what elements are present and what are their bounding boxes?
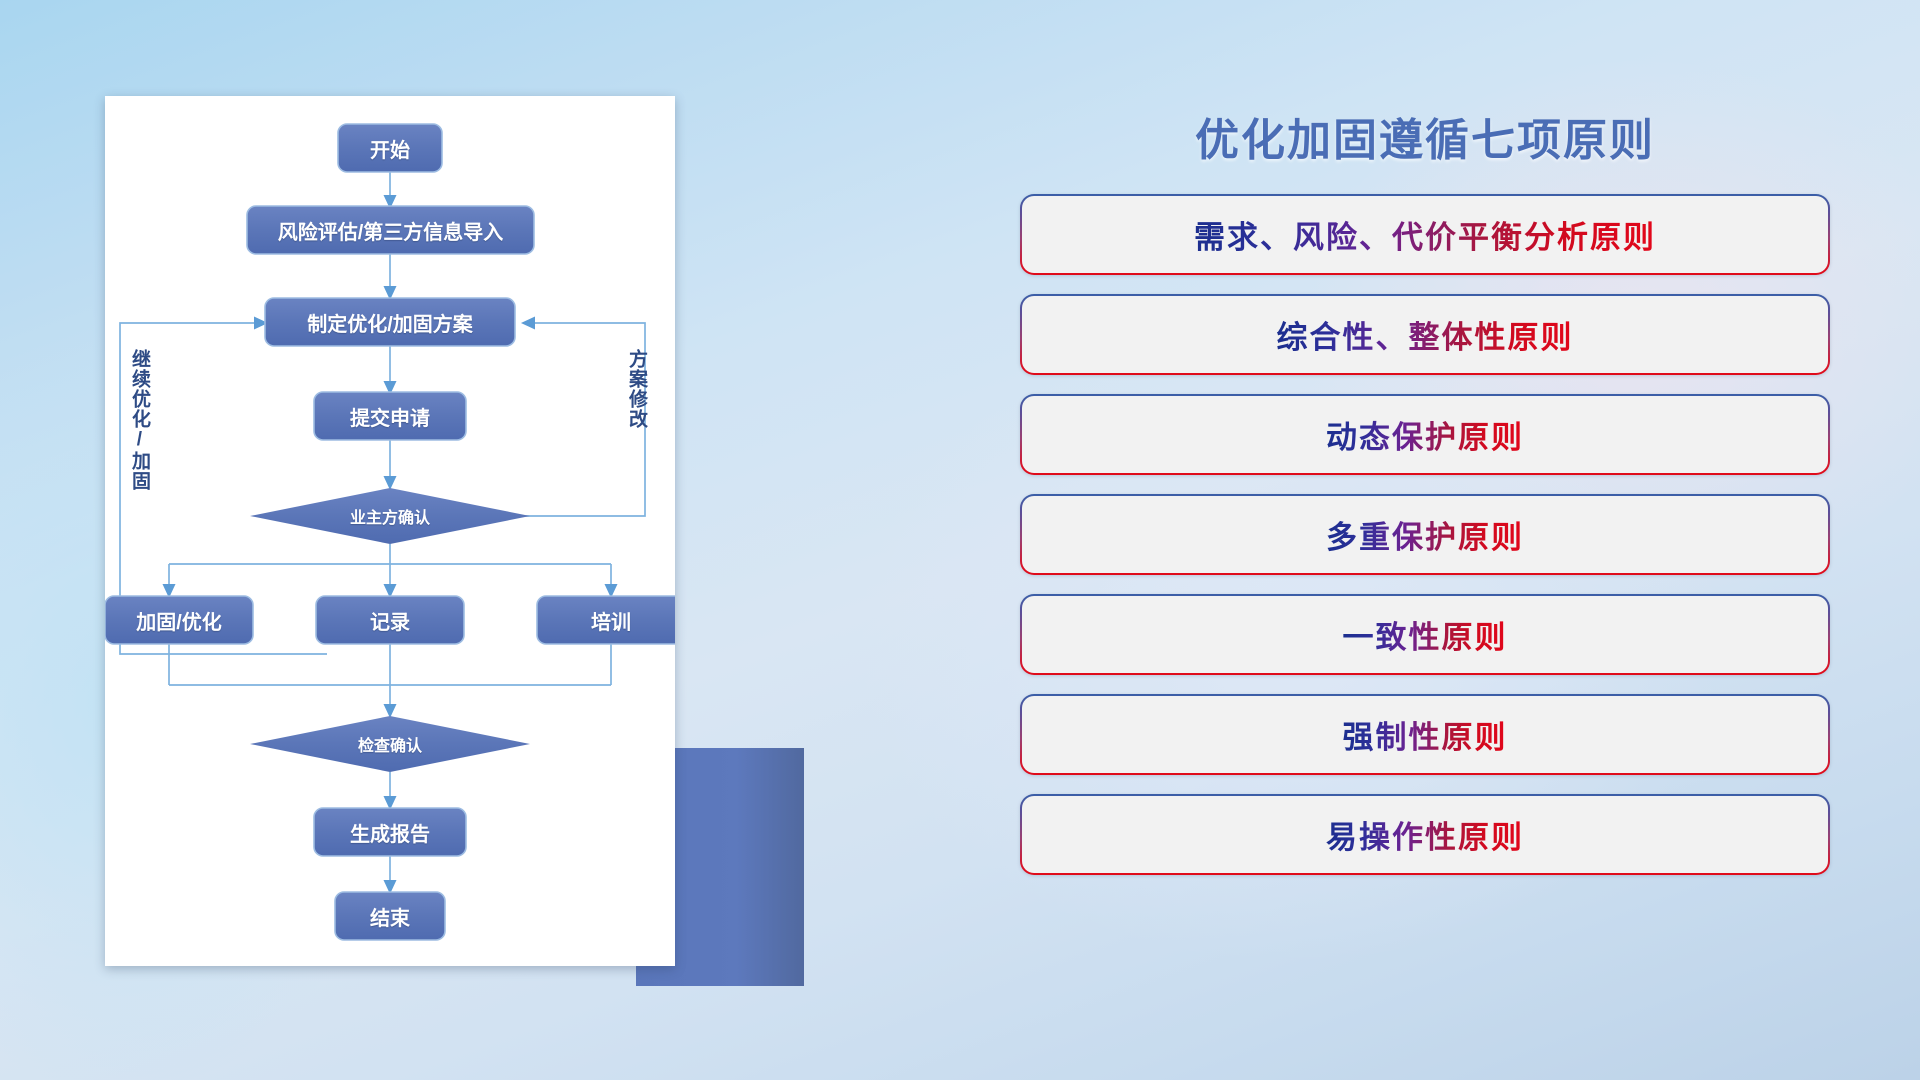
principle-item-4[interactable]: 多重保护原则: [1020, 494, 1830, 575]
flow-edge-label-continue-optimize: 继续优化/加固: [129, 349, 149, 491]
principle-item-2[interactable]: 综合性、整体性原则: [1020, 294, 1830, 375]
flow-edge-label-plan-revision: 方案修改: [626, 349, 646, 429]
flowchart-graphics: [105, 96, 675, 966]
principle-label: 需求、风险、代价平衡分析原则: [1194, 212, 1656, 257]
principles-list: 需求、风险、代价平衡分析原则 综合性、整体性原则 动态保护原则 多重保护原则 一…: [1020, 194, 1830, 894]
principle-label: 易操作性原则: [1326, 812, 1524, 857]
principle-label: 多重保护原则: [1326, 512, 1524, 557]
slide-canvas: 开始 风险评估/第三方信息导入 制定优化/加固方案 提交申请 业主方确认 加固/…: [0, 0, 1920, 1080]
page-title: 优化加固遵循七项原则: [1020, 104, 1830, 168]
principles-panel: 优化加固遵循七项原则 需求、风险、代价平衡分析原则 综合性、整体性原则 动态保护…: [1020, 90, 1830, 1020]
flowchart-card: 开始 风险评估/第三方信息导入 制定优化/加固方案 提交申请 业主方确认 加固/…: [105, 96, 675, 966]
principle-item-5[interactable]: 一致性原则: [1020, 594, 1830, 675]
principle-item-7[interactable]: 易操作性原则: [1020, 794, 1830, 875]
principle-item-1[interactable]: 需求、风险、代价平衡分析原则: [1020, 194, 1830, 275]
principle-label: 综合性、整体性原则: [1277, 312, 1574, 357]
flowchart: 开始 风险评估/第三方信息导入 制定优化/加固方案 提交申请 业主方确认 加固/…: [105, 96, 675, 966]
principle-item-6[interactable]: 强制性原则: [1020, 694, 1830, 775]
principle-label: 一致性原则: [1343, 612, 1508, 657]
principle-label: 强制性原则: [1343, 712, 1508, 757]
principle-label: 动态保护原则: [1326, 412, 1524, 457]
principle-item-3[interactable]: 动态保护原则: [1020, 394, 1830, 475]
